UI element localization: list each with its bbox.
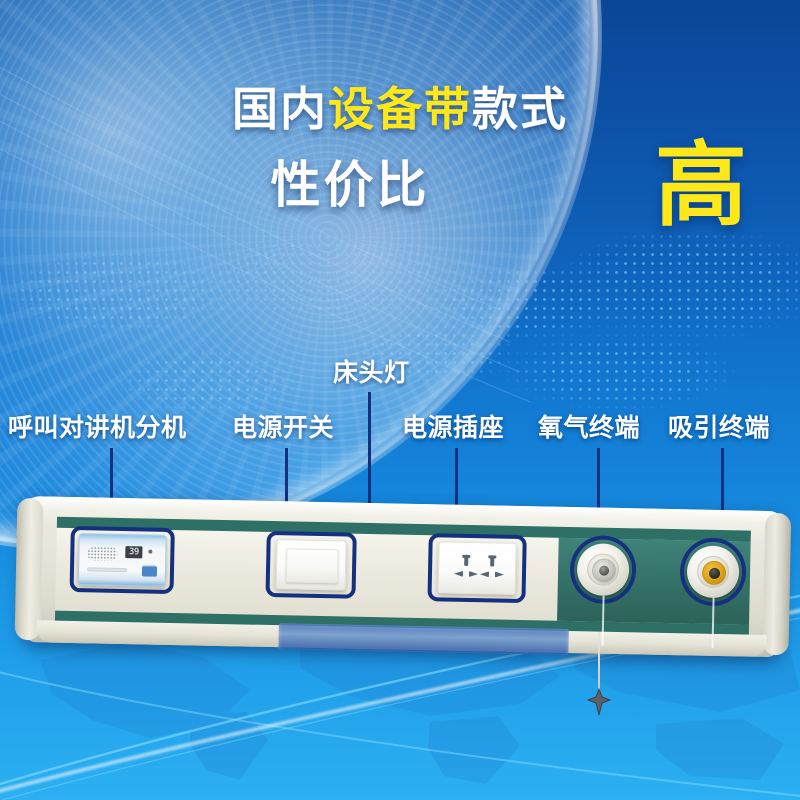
callout-label-power-switch: 电源开关 <box>232 415 334 440</box>
subtitle: 性价比 <box>70 160 630 210</box>
callout-label-bed-lamp: 床头灯 <box>333 360 410 385</box>
panel-end-cap-left <box>15 498 44 640</box>
page-title: 国内设备带款式 <box>0 86 800 132</box>
highlight-box-intercom <box>70 526 175 594</box>
headline-part-3: 款式 <box>472 82 568 136</box>
callout-label-oxygen: 氧气终端 <box>538 415 640 440</box>
pull-cord[interactable] <box>598 632 600 694</box>
emphasis-word: 高 <box>655 140 747 232</box>
earth-globe-texture <box>0 0 590 540</box>
headline-part-2: 设备带 <box>328 82 472 136</box>
callout-label-intercom: 呼叫对讲机分机 <box>8 415 187 440</box>
callout-label-suction: 吸引终端 <box>668 415 770 440</box>
protective-film <box>278 623 568 655</box>
product-banner: 国内设备带款式 性价比 高 呼叫对讲机分机 电源开关 床头灯 电源插座 氧气终端… <box>0 0 800 800</box>
callout-label-power-socket: 电源插座 <box>402 415 504 440</box>
highlight-box-power-switch <box>265 531 356 599</box>
earth-globe <box>0 0 590 540</box>
headline-part-1: 国内 <box>232 82 328 136</box>
medical-bed-head-panel: 39 <box>21 496 786 657</box>
highlight-box-power-socket <box>427 533 526 603</box>
pull-cord-grip-icon[interactable] <box>585 688 613 716</box>
halftone-world-map <box>0 232 800 442</box>
